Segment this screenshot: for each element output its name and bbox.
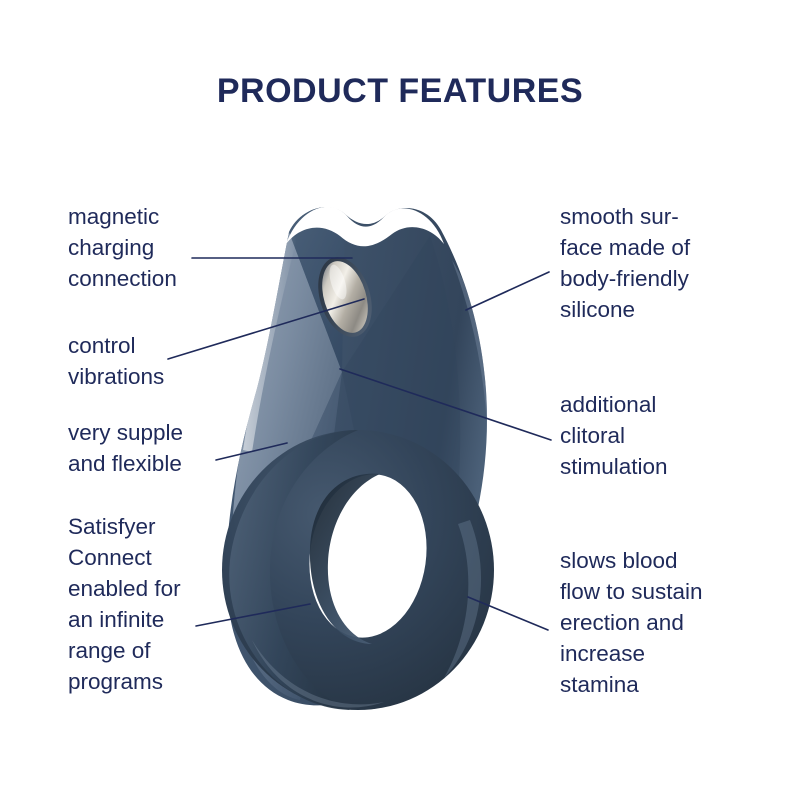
callout-smooth-surface-silicone: smooth sur- face made of body-friendly s… xyxy=(560,201,780,325)
callout-satisfyer-connect: Satisfyer Connect enabled for an infinit… xyxy=(68,511,268,697)
callout-slows-blood-flow: slows blood flow to sustain erection and… xyxy=(560,545,790,700)
callout-additional-clitoral-stimulation: additional clitoral stimulation xyxy=(560,389,780,482)
callout-very-supple-and-flexible: very supple and flexible xyxy=(68,417,268,479)
callout-control-vibrations: control vibrations xyxy=(68,330,258,392)
product-features-page: PRODUCT FEATURES xyxy=(0,0,800,800)
callout-magnetic-charging-connection: magnetic charging connection xyxy=(68,201,258,294)
